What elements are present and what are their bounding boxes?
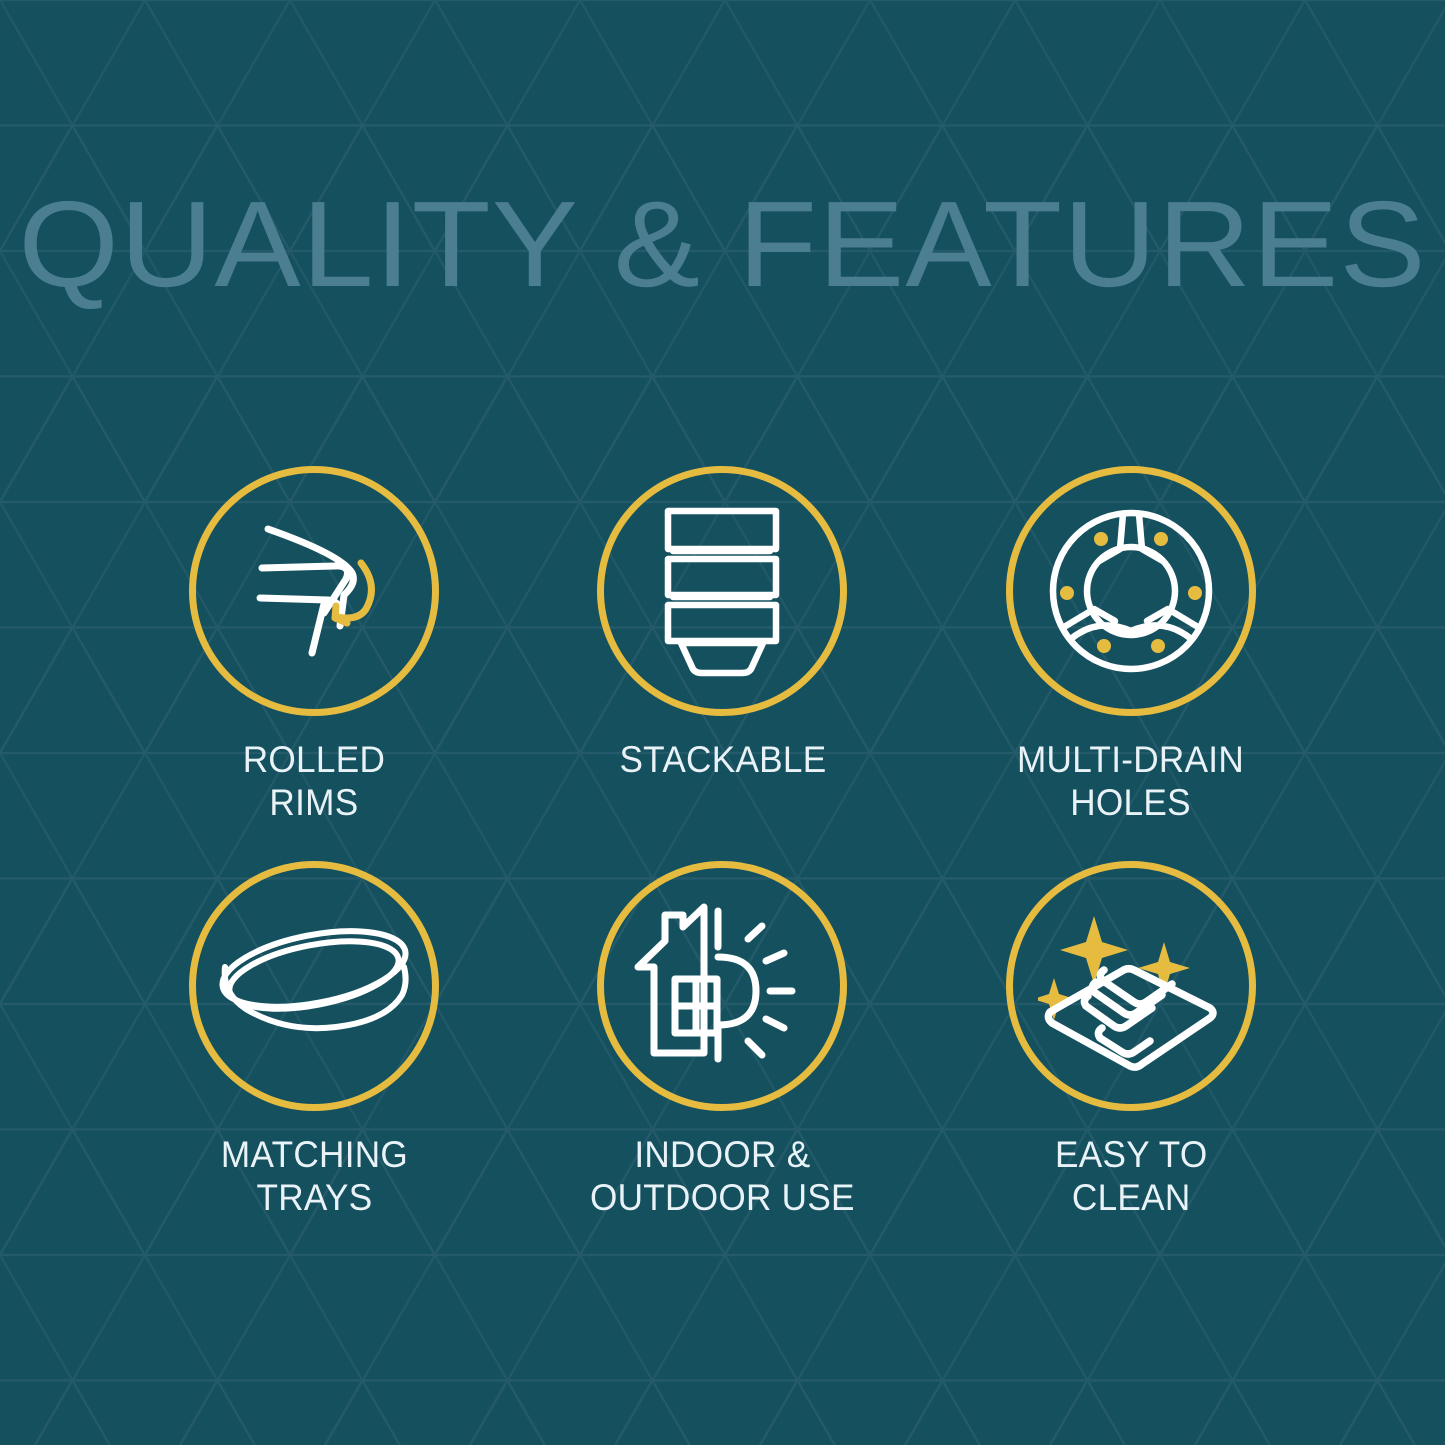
feature-label: ROLLED RIMS xyxy=(243,738,385,824)
feature-stackable[interactable]: STACKABLE xyxy=(518,466,926,861)
feature-icon-ring xyxy=(597,466,847,716)
features-grid: ROLLED RIMS STACKABLE xyxy=(110,466,1335,1256)
feature-label: EASY TO CLEAN xyxy=(1055,1133,1207,1219)
drain-holes-icon xyxy=(1041,501,1221,681)
infographic-canvas: QUALITY & FEATURES ROL xyxy=(0,0,1445,1445)
feature-matching-trays[interactable]: MATCHING TRAYS xyxy=(110,861,518,1256)
feature-label: INDOOR & OUTDOOR USE xyxy=(590,1133,855,1219)
page-title: QUALITY & FEATURES xyxy=(0,183,1445,305)
wiping-hand-sparkle-icon xyxy=(1038,900,1224,1072)
feature-icon-ring xyxy=(189,861,439,1111)
feature-label: MATCHING TRAYS xyxy=(221,1133,408,1219)
feature-label: STACKABLE xyxy=(619,738,826,781)
feature-rolled-rims[interactable]: ROLLED RIMS xyxy=(110,466,518,861)
stacked-pots-icon xyxy=(642,501,802,681)
house-sun-icon xyxy=(632,901,812,1071)
feature-easy-to-clean[interactable]: EASY TO CLEAN xyxy=(927,861,1335,1256)
rolled-rim-icon xyxy=(224,501,404,681)
feature-label: MULTI-DRAIN HOLES xyxy=(1017,738,1244,824)
feature-icon-ring xyxy=(1006,466,1256,716)
feature-multi-drain-holes[interactable]: MULTI-DRAIN HOLES xyxy=(927,466,1335,861)
feature-indoor-outdoor-use[interactable]: INDOOR & OUTDOOR USE xyxy=(518,861,926,1256)
feature-icon-ring xyxy=(1006,861,1256,1111)
feature-icon-ring xyxy=(189,466,439,716)
feature-icon-ring xyxy=(597,861,847,1111)
oval-tray-icon xyxy=(214,911,414,1061)
